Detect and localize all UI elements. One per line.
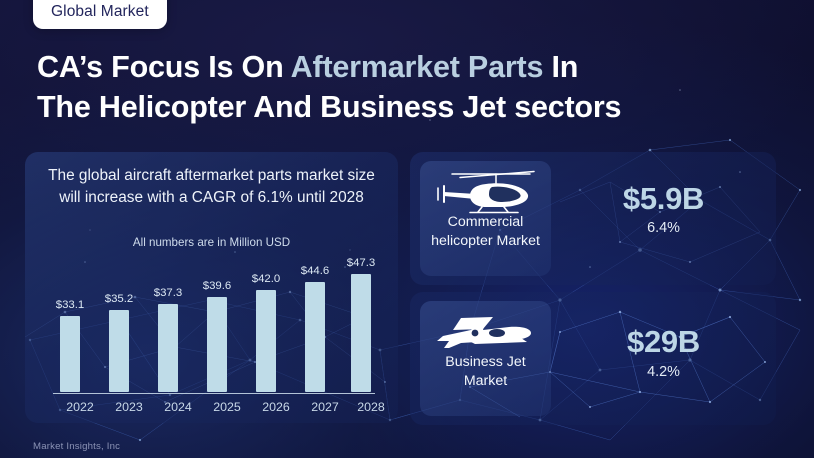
bar	[207, 297, 227, 392]
bar-group: $47.3	[351, 257, 371, 392]
bar-group: $39.6	[207, 280, 227, 392]
card-label: Business Jet Market	[424, 353, 547, 391]
global-market-tag: Global Market	[33, 0, 167, 29]
bar-value-label: $39.6	[203, 280, 232, 292]
headline-accent: Aftermarket Parts	[291, 50, 544, 84]
card-label: Commercial helicopter Market	[424, 213, 547, 251]
page-title: CA’s Focus Is On Aftermarket Parts In Th…	[37, 48, 797, 127]
panel-title: The global aircraft aftermarket parts ma…	[37, 165, 386, 209]
x-axis-tick-label: 2023	[107, 400, 151, 414]
business-jet-icon	[420, 307, 551, 355]
helicopter-icon-box: Commercial helicopter Market	[420, 161, 551, 276]
card-percentage: 6.4%	[551, 220, 776, 236]
x-axis-tick-label: 2028	[349, 400, 393, 414]
card-percentage: 4.2%	[551, 364, 776, 380]
bar-value-label: $37.3	[154, 287, 183, 299]
headline-part-1: CA’s Focus Is On	[37, 50, 291, 84]
source-credit: Market Insights, Inc	[33, 441, 120, 452]
bar-value-label: $47.3	[347, 257, 376, 269]
bar-chart: $33.1 $35.2 $37.3 $39.6 $42.0	[25, 262, 398, 422]
panel-subtitle: All numbers are in Million USD	[37, 236, 386, 249]
bar	[158, 304, 178, 392]
bar	[109, 310, 129, 392]
x-axis-tick-label: 2024	[156, 400, 200, 414]
commercial-helicopter-market-card[interactable]: Commercial helicopter Market $5.9B 6.4%	[410, 152, 776, 285]
bar	[256, 290, 276, 392]
bar-value-label: $44.6	[301, 265, 330, 277]
business-jet-market-card[interactable]: Business Jet Market $29B 4.2%	[410, 292, 776, 425]
bar-value-label: $42.0	[252, 273, 281, 285]
business-jet-icon-box: Business Jet Market	[420, 301, 551, 416]
bar	[60, 316, 80, 392]
bar	[351, 274, 371, 392]
bar-chart-bars: $33.1 $35.2 $37.3 $39.6 $42.0	[57, 262, 371, 392]
bar-value-label: $33.1	[56, 299, 85, 311]
chart-x-axis-labels: 2022 2023 2024 2025 2026 2027 2028	[57, 400, 371, 422]
market-size-panel: The global aircraft aftermarket parts ma…	[25, 152, 398, 423]
bar-group: $37.3	[158, 287, 178, 392]
chart-axis-line	[53, 393, 375, 394]
card-value: $5.9B	[551, 181, 776, 217]
bar	[305, 282, 325, 392]
card-value: $29B	[551, 324, 776, 360]
helicopter-icon	[420, 167, 551, 215]
headline-part-2: In	[543, 50, 578, 84]
x-axis-tick-label: 2022	[58, 400, 102, 414]
bar-group: $42.0	[256, 273, 276, 392]
x-axis-tick-label: 2025	[205, 400, 249, 414]
bar-value-label: $35.2	[105, 293, 134, 305]
x-axis-tick-label: 2026	[254, 400, 298, 414]
bar-group: $33.1	[60, 299, 80, 392]
global-market-tag-label: Global Market	[51, 3, 149, 20]
x-axis-tick-label: 2027	[303, 400, 347, 414]
headline-line-2: The Helicopter And Business Jet sectors	[37, 90, 621, 124]
bar-group: $44.6	[305, 265, 325, 392]
bar-group: $35.2	[109, 293, 129, 392]
